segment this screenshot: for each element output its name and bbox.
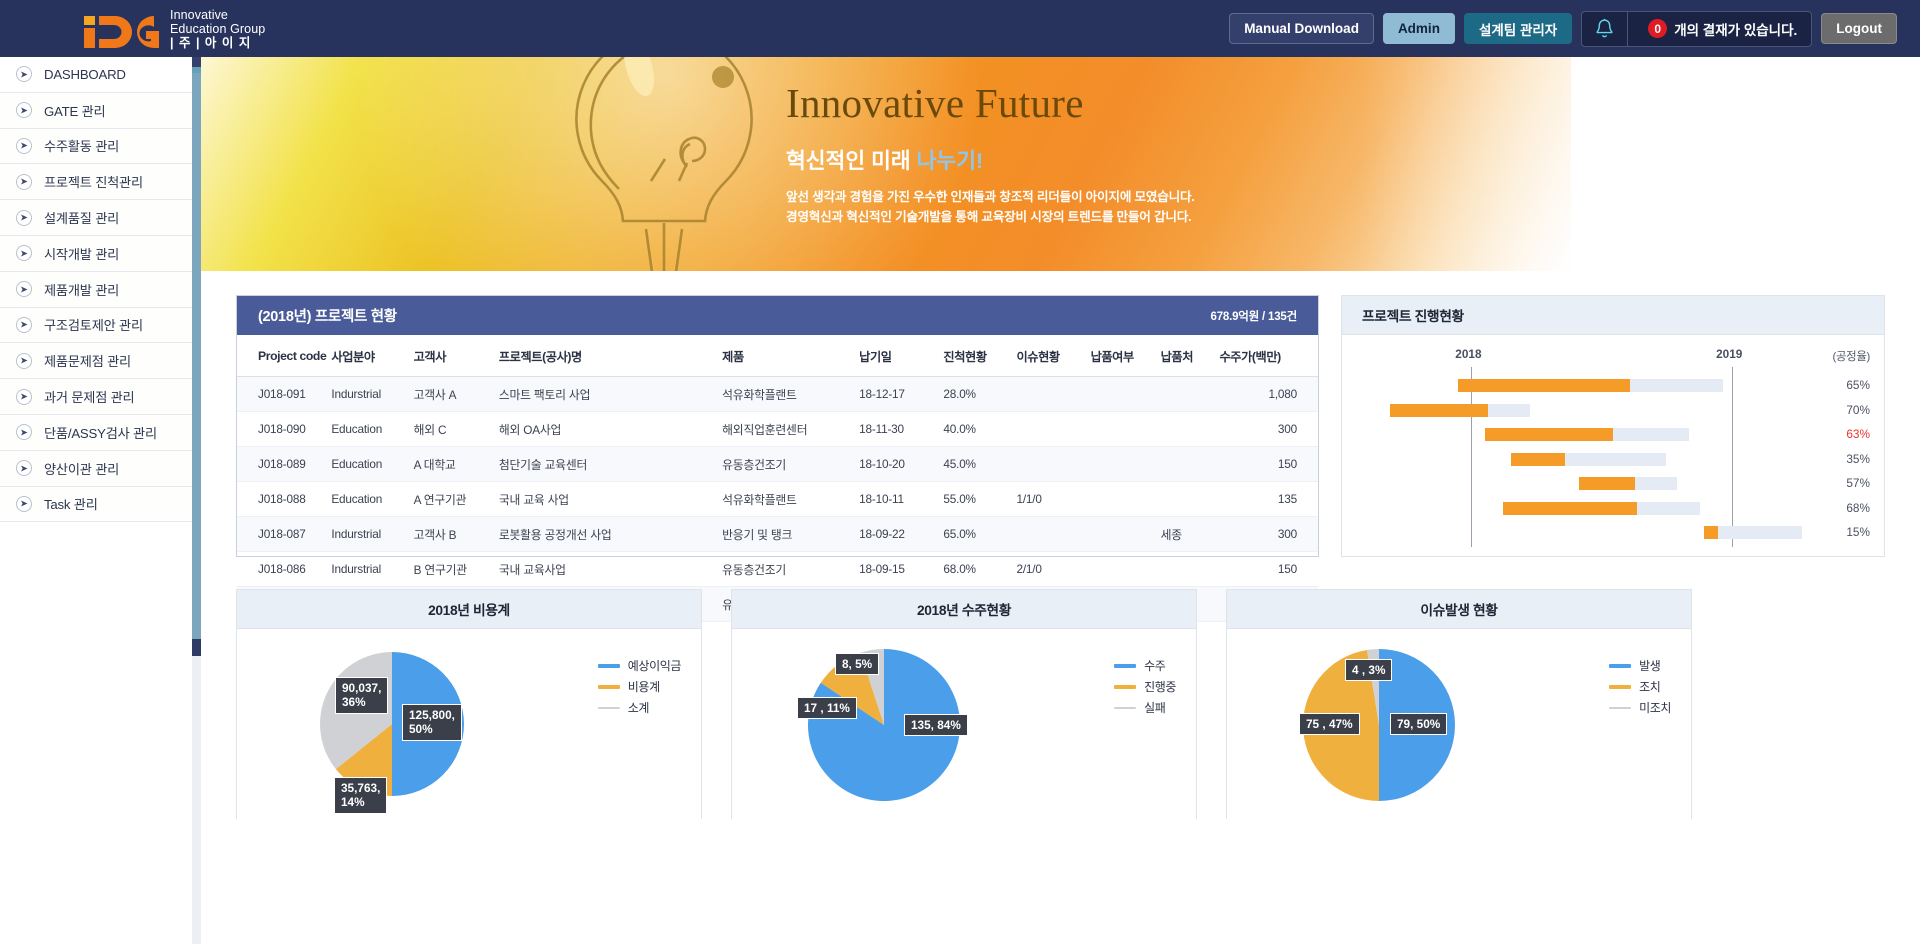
hero-body: 앞선 생각과 경험을 가진 우수한 인재들과 창조적 리더들이 아이지에 모였습… bbox=[786, 188, 1546, 227]
legend-item[interactable]: 진행중 bbox=[1114, 678, 1176, 695]
hero-headline: Innovative Future bbox=[786, 79, 1546, 128]
pie-data-label-2: 4 , 3% bbox=[1345, 659, 1392, 681]
hero-subhead-a: 혁신적인 미래 bbox=[786, 149, 917, 173]
cell-progress: 28.0% bbox=[943, 377, 1016, 412]
sidebar-item-5[interactable]: 시작개발 관리 bbox=[0, 236, 199, 272]
project-table-body: J018-091Indurstrial고객사 A스마트 팩토리 사업석유화학플랜… bbox=[237, 377, 1318, 622]
arrow-right-icon bbox=[16, 245, 32, 261]
legend-label: 실패 bbox=[1144, 699, 1165, 716]
cell-product: 유동층건조기 bbox=[722, 447, 859, 482]
cell-project-name: 국내 교육 사업 bbox=[499, 482, 722, 517]
cell-progress: 40.0% bbox=[943, 412, 1016, 447]
table-header-row: Project code 사업분야 고객사 프로젝트(공사)명 제품 납기일 진… bbox=[237, 335, 1318, 377]
cell-amount: 150 bbox=[1219, 552, 1318, 587]
legend-item[interactable]: 비용계 bbox=[598, 678, 681, 695]
cell-due-date: 18-11-30 bbox=[859, 412, 943, 447]
project-panel-header: (2018년) 프로젝트 현황 678.9억원 / 135건 bbox=[237, 296, 1318, 335]
brand-line1: Innovative bbox=[170, 8, 265, 22]
legend-swatch bbox=[1114, 664, 1136, 668]
pie-svg bbox=[732, 629, 1032, 819]
col-destination: 납품처 bbox=[1161, 335, 1220, 377]
arrow-right-icon bbox=[16, 102, 32, 118]
gantt-progress-pct: 65% bbox=[1828, 378, 1870, 392]
col-delivered: 납품여부 bbox=[1091, 335, 1161, 377]
pie-data-label-1: 17 , 11% bbox=[797, 697, 857, 719]
brand-line3: | 주 | 아 이 지 bbox=[170, 36, 265, 50]
gantt-bar-fill bbox=[1458, 379, 1630, 392]
cell-issue bbox=[1016, 412, 1090, 447]
sidebar-item-label: Task 관리 bbox=[44, 494, 98, 513]
cell-delivered bbox=[1091, 377, 1161, 412]
arrow-right-icon bbox=[16, 353, 32, 369]
pie-svg bbox=[1227, 629, 1527, 819]
top-bar: Innovative Education Group | 주 | 아 이 지 M… bbox=[0, 0, 1920, 57]
cell-project-code: J018-091 bbox=[237, 377, 331, 412]
approval-alert[interactable]: 0 개의 결재가 있습니다. bbox=[1581, 11, 1812, 47]
gantt-gridline-0 bbox=[1471, 367, 1472, 547]
hero-copy: Innovative Future 혁신적인 미래 나누기! 앞선 생각과 경험… bbox=[786, 79, 1546, 227]
table-row[interactable]: J018-089EducationA 대학교첨단기술 교육센터유동층건조기18-… bbox=[237, 447, 1318, 482]
sidebar-item-label: DASHBOARD bbox=[44, 67, 126, 82]
legend-item[interactable]: 조치 bbox=[1609, 678, 1671, 695]
table-row[interactable]: J018-091Indurstrial고객사 A스마트 팩토리 사업석유화학플랜… bbox=[237, 377, 1318, 412]
cell-progress: 65.0% bbox=[943, 517, 1016, 552]
cell-amount: 300 bbox=[1219, 412, 1318, 447]
pie-data-label-1: 35,763, 14% bbox=[334, 777, 387, 814]
sidebar-item-8[interactable]: 제품문제점 관리 bbox=[0, 343, 199, 379]
cell-project-name: 로봇활용 공정개선 사업 bbox=[499, 517, 722, 552]
table-row[interactable]: J018-087Indurstrial고객사 B로봇활용 공정개선 사업반응기 … bbox=[237, 517, 1318, 552]
col-customer: 고객사 bbox=[414, 335, 499, 377]
arrow-right-icon bbox=[16, 210, 32, 226]
cell-destination bbox=[1161, 447, 1220, 482]
cell-delivered bbox=[1091, 412, 1161, 447]
legend-swatch bbox=[1609, 685, 1631, 689]
pie-legend: 예상이익금비용계소계 bbox=[598, 657, 681, 720]
brand-logo[interactable]: Innovative Education Group | 주 | 아 이 지 bbox=[0, 8, 265, 50]
hero-body-line2: 경영혁신과 혁신적인 기술개발을 통해 교육장비 시장의 트렌드를 만들어 갑니… bbox=[786, 208, 1546, 228]
gantt-gridline-1 bbox=[1732, 367, 1733, 547]
gantt-panel-header: 프로젝트 진행현황 bbox=[1342, 296, 1884, 335]
gantt-progress-pct: 63% bbox=[1828, 427, 1870, 441]
cell-issue bbox=[1016, 447, 1090, 482]
cell-product: 해외직업훈련센터 bbox=[722, 412, 859, 447]
gantt-bar-track bbox=[1704, 526, 1802, 539]
cell-due-date: 18-12-17 bbox=[859, 377, 943, 412]
arrow-right-icon bbox=[16, 66, 32, 82]
sidebar-item-0[interactable]: DASHBOARD bbox=[0, 57, 199, 93]
brand-line2: Education Group bbox=[170, 22, 265, 36]
cost-pie-body: 125,800, 50%35,763, 14%90,037, 36%예상이익금비… bbox=[237, 629, 701, 819]
bell-icon[interactable] bbox=[1582, 12, 1628, 46]
cell-project-name: 해외 OA사업 bbox=[499, 412, 722, 447]
cell-delivered bbox=[1091, 517, 1161, 552]
legend-item[interactable]: 미조치 bbox=[1609, 699, 1671, 716]
cell-destination bbox=[1161, 412, 1220, 447]
cell-delivered bbox=[1091, 482, 1161, 517]
sidebar-item-label: 제품개발 관리 bbox=[44, 280, 119, 299]
admin-button[interactable]: Admin bbox=[1383, 13, 1455, 44]
cell-business-area: Indurstrial bbox=[331, 552, 413, 587]
legend-item[interactable]: 수주 bbox=[1114, 657, 1176, 674]
legend-label: 미조치 bbox=[1639, 699, 1671, 716]
sidebar-item-label: 구조검토제안 관리 bbox=[44, 315, 143, 334]
approval-count-badge: 0 bbox=[1648, 19, 1667, 38]
sidebar-item-3[interactable]: 프로젝트 진척관리 bbox=[0, 164, 199, 200]
cell-business-area: Indurstrial bbox=[331, 377, 413, 412]
cell-issue: 1/1/0 bbox=[1016, 482, 1090, 517]
cell-progress: 55.0% bbox=[943, 482, 1016, 517]
cell-business-area: Education bbox=[331, 482, 413, 517]
cell-business-area: Education bbox=[331, 412, 413, 447]
col-project-code: Project code bbox=[237, 335, 331, 377]
cell-delivered bbox=[1091, 552, 1161, 587]
sidebar-item-label: 단품/ASSY검사 관리 bbox=[44, 423, 157, 442]
gantt-bar-fill bbox=[1579, 477, 1635, 490]
sidebar-item-label: GATE 관리 bbox=[44, 101, 105, 120]
idg-logo-icon bbox=[84, 10, 160, 48]
legend-item[interactable]: 예상이익금 bbox=[598, 657, 681, 674]
order-pie-panel: 2018년 수주현황 135, 84%17 , 11%8, 5%수주진행중실패 bbox=[731, 589, 1197, 819]
cell-project-code: J018-090 bbox=[237, 412, 331, 447]
sidebar-item-label: 양산이관 관리 bbox=[44, 459, 119, 478]
arrow-right-icon bbox=[16, 317, 32, 333]
sidebar-item-2[interactable]: 수주활동 관리 bbox=[0, 129, 199, 165]
cell-project-name: 스마트 팩토리 사업 bbox=[499, 377, 722, 412]
issue-pie-panel: 이슈발생 현황 79, 50%75 , 47%4 , 3%발생조치미조치 bbox=[1226, 589, 1692, 819]
cell-product: 석유화학플랜트 bbox=[722, 377, 859, 412]
gantt-progress-pct: 57% bbox=[1828, 476, 1870, 490]
legend-swatch bbox=[1114, 685, 1136, 689]
cell-destination bbox=[1161, 377, 1220, 412]
cell-destination: 세종 bbox=[1161, 517, 1220, 552]
cell-destination bbox=[1161, 482, 1220, 517]
gantt-axis-2018: 2018 bbox=[1455, 347, 1481, 361]
arrow-right-icon bbox=[16, 496, 32, 512]
logout-button[interactable]: Logout bbox=[1821, 13, 1897, 44]
gantt-panel-title: 프로젝트 진행현황 bbox=[1362, 305, 1464, 325]
order-pie-body: 135, 84%17 , 11%8, 5%수주진행중실패 bbox=[732, 629, 1196, 819]
arrow-right-icon bbox=[16, 174, 32, 190]
legend-swatch bbox=[598, 664, 620, 668]
pie-data-label-2: 8, 5% bbox=[835, 653, 879, 675]
arrow-right-icon bbox=[16, 281, 32, 297]
legend-item[interactable]: 실패 bbox=[1114, 699, 1176, 716]
legend-label: 발생 bbox=[1639, 657, 1660, 674]
cell-delivered bbox=[1091, 447, 1161, 482]
dashboard-content: (2018년) 프로젝트 현황 678.9억원 / 135건 Project c… bbox=[201, 271, 1920, 944]
gantt-progress-pct: 68% bbox=[1828, 501, 1870, 515]
cell-due-date: 18-10-11 bbox=[859, 482, 943, 517]
topbar-actions: Manual Download Admin 설계팀 관리자 0 개의 결재가 있… bbox=[1229, 11, 1920, 47]
legend-swatch bbox=[1114, 707, 1136, 709]
brand-text: Innovative Education Group | 주 | 아 이 지 bbox=[170, 8, 265, 50]
manual-download-button[interactable]: Manual Download bbox=[1229, 13, 1374, 44]
cell-product: 유동층건조기 bbox=[722, 552, 859, 587]
hero-banner: Innovative Future 혁신적인 미래 나누기! 앞선 생각과 경험… bbox=[201, 57, 1920, 271]
cell-customer: B 연구기관 bbox=[414, 552, 499, 587]
sidebar-item-9[interactable]: 과거 문제점 관리 bbox=[0, 379, 199, 415]
gantt-bar-fill bbox=[1511, 453, 1565, 466]
cell-business-area: Indurstrial bbox=[331, 517, 413, 552]
gantt-axis-2019: 2019 bbox=[1716, 347, 1742, 361]
arrow-right-icon bbox=[16, 424, 32, 440]
cell-amount: 1,080 bbox=[1219, 377, 1318, 412]
legend-swatch bbox=[598, 707, 620, 709]
cell-issue bbox=[1016, 517, 1090, 552]
cell-customer: A 연구기관 bbox=[414, 482, 499, 517]
gantt-bar-fill bbox=[1704, 526, 1719, 539]
project-table: Project code 사업분야 고객사 프로젝트(공사)명 제품 납기일 진… bbox=[237, 335, 1318, 622]
hero-subhead-b: 나누기! bbox=[917, 149, 984, 173]
project-progress-panel: 프로젝트 진행현황 20182019(공정율)65%70%63%35%57%68… bbox=[1341, 295, 1885, 557]
issue-pie-title: 이슈발생 현황 bbox=[1420, 599, 1497, 619]
col-progress: 진척현황 bbox=[943, 335, 1016, 377]
sidebar-scrollbar-thumb[interactable] bbox=[192, 57, 201, 656]
legend-label: 수주 bbox=[1144, 657, 1165, 674]
gantt-bar-fill bbox=[1485, 428, 1614, 441]
col-product: 제품 bbox=[722, 335, 859, 377]
sidebar-item-label: 설계품질 관리 bbox=[44, 208, 119, 227]
col-business-area: 사업분야 bbox=[331, 335, 413, 377]
issue-pie-header: 이슈발생 현황 bbox=[1227, 590, 1691, 629]
sidebar-item-4[interactable]: 설계품질 관리 bbox=[0, 200, 199, 236]
gantt-chart: 20182019(공정율)65%70%63%35%57%68%15% bbox=[1342, 335, 1884, 557]
cell-due-date: 18-10-20 bbox=[859, 447, 943, 482]
col-amount: 수주가(백만) bbox=[1219, 335, 1318, 377]
arrow-right-icon bbox=[16, 389, 32, 405]
pie-data-label-0: 135, 84% bbox=[904, 714, 968, 736]
cell-business-area: Education bbox=[331, 447, 413, 482]
col-due-date: 납기일 bbox=[859, 335, 943, 377]
cell-project-code: J018-087 bbox=[237, 517, 331, 552]
sidebar-item-12[interactable]: Task 관리 bbox=[0, 487, 199, 523]
legend-swatch bbox=[1609, 664, 1631, 668]
cell-project-name: 국내 교육사업 bbox=[499, 552, 722, 587]
gantt-progress-pct: 35% bbox=[1828, 452, 1870, 466]
gantt-progress-pct: 15% bbox=[1828, 525, 1870, 539]
sidebar-item-10[interactable]: 단품/ASSY검사 관리 bbox=[0, 415, 199, 451]
pie-data-label-0: 125,800, 50% bbox=[402, 704, 462, 741]
col-issue: 이슈현황 bbox=[1016, 335, 1090, 377]
legend-label: 소계 bbox=[628, 699, 649, 716]
cell-progress: 45.0% bbox=[943, 447, 1016, 482]
cell-project-code: J018-089 bbox=[237, 447, 331, 482]
cell-customer: 해외 C bbox=[414, 412, 499, 447]
cell-issue bbox=[1016, 377, 1090, 412]
cell-customer: 고객사 A bbox=[414, 377, 499, 412]
sidebar-item-label: 제품문제점 관리 bbox=[44, 351, 131, 370]
sidebar-item-11[interactable]: 양산이관 관리 bbox=[0, 451, 199, 487]
gantt-progress-pct: 70% bbox=[1828, 403, 1870, 417]
table-row[interactable]: J018-090Education해외 C해외 OA사업해외직업훈련센터18-1… bbox=[237, 412, 1318, 447]
cost-pie-title: 2018년 비용계 bbox=[428, 599, 510, 619]
gantt-bar-fill bbox=[1503, 502, 1637, 515]
pie-legend: 발생조치미조치 bbox=[1609, 657, 1671, 720]
cell-product: 반응기 및 탱크 bbox=[722, 517, 859, 552]
cell-progress: 68.0% bbox=[943, 552, 1016, 587]
legend-swatch bbox=[1609, 707, 1631, 709]
cell-amount: 135 bbox=[1219, 482, 1318, 517]
legend-label: 조치 bbox=[1639, 678, 1660, 695]
project-panel-title: (2018년) 프로젝트 현황 bbox=[258, 305, 397, 326]
legend-label: 비용계 bbox=[628, 678, 660, 695]
table-row[interactable]: J018-088EducationA 연구기관국내 교육 사업석유화학플랜트18… bbox=[237, 482, 1318, 517]
sidebar-item-label: 수주활동 관리 bbox=[44, 136, 119, 155]
cell-customer: A 대학교 bbox=[414, 447, 499, 482]
sidebar-item-label: 프로젝트 진척관리 bbox=[44, 172, 143, 191]
cell-customer: 고객사 B bbox=[414, 517, 499, 552]
legend-swatch bbox=[598, 685, 620, 689]
hero-subhead: 혁신적인 미래 나누기! bbox=[786, 144, 1546, 175]
order-pie-title: 2018년 수주현황 bbox=[917, 599, 1011, 619]
legend-item[interactable]: 발생 bbox=[1609, 657, 1671, 674]
table-row[interactable]: J018-086IndurstrialB 연구기관국내 교육사업유동층건조기18… bbox=[237, 552, 1318, 587]
cell-project-code: J018-088 bbox=[237, 482, 331, 517]
legend-item[interactable]: 소계 bbox=[598, 699, 681, 716]
pie-legend: 수주진행중실패 bbox=[1114, 657, 1176, 720]
cell-issue: 2/1/0 bbox=[1016, 552, 1090, 587]
legend-label: 예상이익금 bbox=[628, 657, 681, 674]
cell-project-code: J018-086 bbox=[237, 552, 331, 587]
arrow-right-icon bbox=[16, 460, 32, 476]
cell-project-name: 첨단기술 교육센터 bbox=[499, 447, 722, 482]
sidebar-item-label: 과거 문제점 관리 bbox=[44, 387, 134, 406]
cost-pie-panel: 2018년 비용계 125,800, 50%35,763, 14%90,037,… bbox=[236, 589, 702, 819]
design-team-button[interactable]: 설계팀 관리자 bbox=[1464, 13, 1572, 44]
cell-due-date: 18-09-22 bbox=[859, 517, 943, 552]
pie-data-label-2: 90,037, 36% bbox=[335, 677, 388, 714]
pie-data-label-1: 75 , 47% bbox=[1299, 713, 1360, 735]
alert-content: 0 개의 결재가 있습니다. bbox=[1638, 19, 1797, 39]
arrow-right-icon bbox=[16, 138, 32, 154]
sidebar-item-7[interactable]: 구조검토제안 관리 bbox=[0, 308, 199, 344]
gantt-bar-fill bbox=[1390, 404, 1488, 417]
cell-amount: 300 bbox=[1219, 517, 1318, 552]
col-project-name: 프로젝트(공사)명 bbox=[499, 335, 722, 377]
sidebar-item-1[interactable]: GATE 관리 bbox=[0, 93, 199, 129]
sidebar-item-label: 시작개발 관리 bbox=[44, 244, 119, 263]
project-table-head: Project code 사업분야 고객사 프로젝트(공사)명 제품 납기일 진… bbox=[237, 335, 1318, 377]
project-status-panel: (2018년) 프로젝트 현황 678.9억원 / 135건 Project c… bbox=[236, 295, 1319, 557]
order-pie-header: 2018년 수주현황 bbox=[732, 590, 1196, 629]
cell-product: 석유화학플랜트 bbox=[722, 482, 859, 517]
hero-body-line1: 앞선 생각과 경험을 가진 우수한 인재들과 창조적 리더들이 아이지에 모였습… bbox=[786, 188, 1546, 208]
cell-amount: 150 bbox=[1219, 447, 1318, 482]
project-panel-summary: 678.9억원 / 135건 bbox=[1211, 308, 1298, 324]
sidebar-item-6[interactable]: 제품개발 관리 bbox=[0, 272, 199, 308]
legend-label: 진행중 bbox=[1144, 678, 1176, 695]
cost-pie-header: 2018년 비용계 bbox=[237, 590, 701, 629]
issue-pie-body: 79, 50%75 , 47%4 , 3%발생조치미조치 bbox=[1227, 629, 1691, 819]
cell-destination bbox=[1161, 552, 1220, 587]
gantt-unit-label: (공정율) bbox=[1832, 348, 1870, 364]
sidebar-nav: DASHBOARDGATE 관리수주활동 관리프로젝트 진척관리설계품질 관리시… bbox=[0, 57, 200, 944]
cell-due-date: 18-09-15 bbox=[859, 552, 943, 587]
pie-data-label-0: 79, 50% bbox=[1390, 713, 1447, 735]
alert-label: 개의 결재가 있습니다. bbox=[1674, 19, 1797, 39]
